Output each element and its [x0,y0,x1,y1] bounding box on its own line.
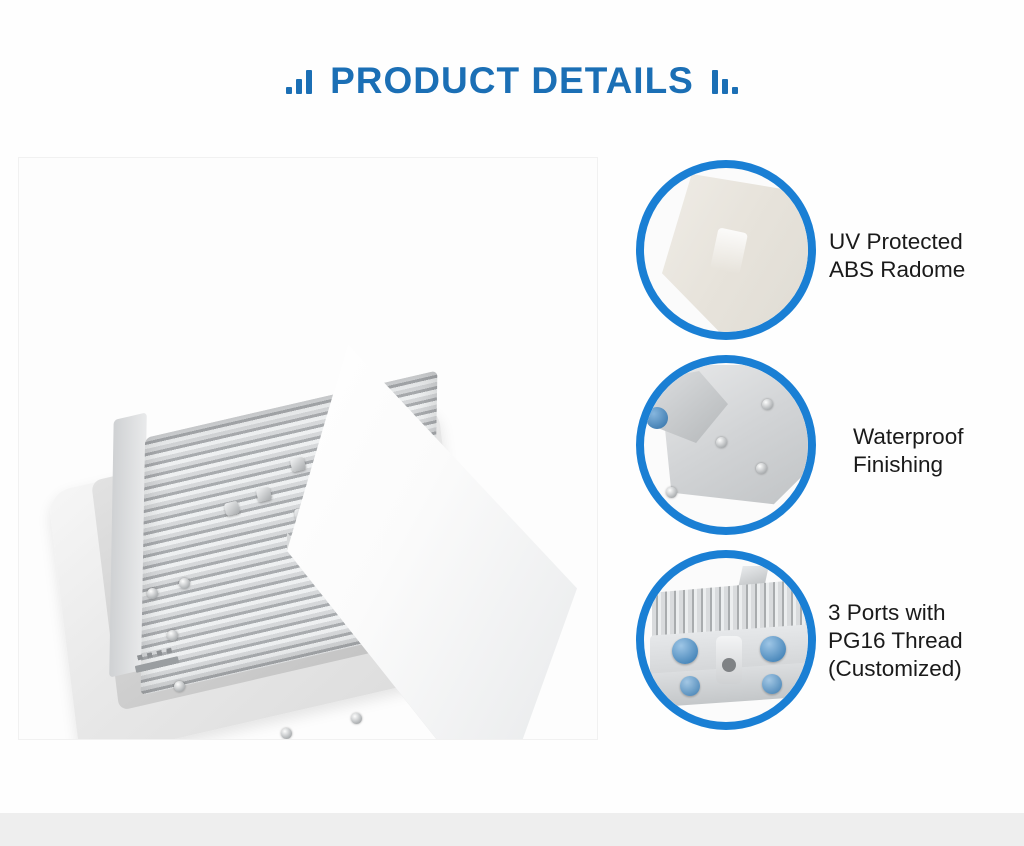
callout-ring [636,355,816,535]
pg16-thread-port [716,636,742,684]
descending-bars-icon [712,68,738,94]
ascending-bars-icon [286,68,312,94]
hardware-screw [762,399,773,410]
blue-port-cap [762,674,782,694]
footer-band [0,813,1024,846]
blue-port-cap [646,407,668,429]
hero-stage [19,158,597,739]
callout-waterproof-finishing [636,355,816,535]
callout-image-uv-radome [644,168,808,332]
hardware-screw [174,681,185,692]
blue-port-cap [672,638,698,664]
callout-label-waterproof-finishing: Waterproof Finishing [853,423,963,479]
callout-label-uv-protected-abs-radome: UV Protected ABS Radome [829,228,965,284]
product-details-page: PRODUCT DETAILS [0,0,1024,846]
hero-product-image [18,157,598,740]
callout-image-ports [644,558,808,722]
callout-ring [636,550,816,730]
page-title: PRODUCT DETAILS [330,62,694,99]
callout-3-ports-pg16-thread [636,550,816,730]
callout-uv-protected-abs-radome [636,160,816,340]
hardware-screw [167,630,178,641]
callout-image-waterproof [644,363,808,527]
hardware-screw [351,713,362,724]
hardware-screw [179,578,190,589]
blue-port-cap [680,676,700,696]
page-heading: PRODUCT DETAILS [0,62,1024,99]
hardware-screw [666,487,677,498]
hardware-screw [716,437,727,448]
blue-port-cap [760,636,786,662]
callout-ring [636,160,816,340]
hardware-screw [147,588,158,599]
callout-label-3-ports-pg16-thread: 3 Ports with PG16 Thread (Customized) [828,599,963,683]
hardware-screw [756,463,767,474]
hardware-screw [281,728,292,739]
